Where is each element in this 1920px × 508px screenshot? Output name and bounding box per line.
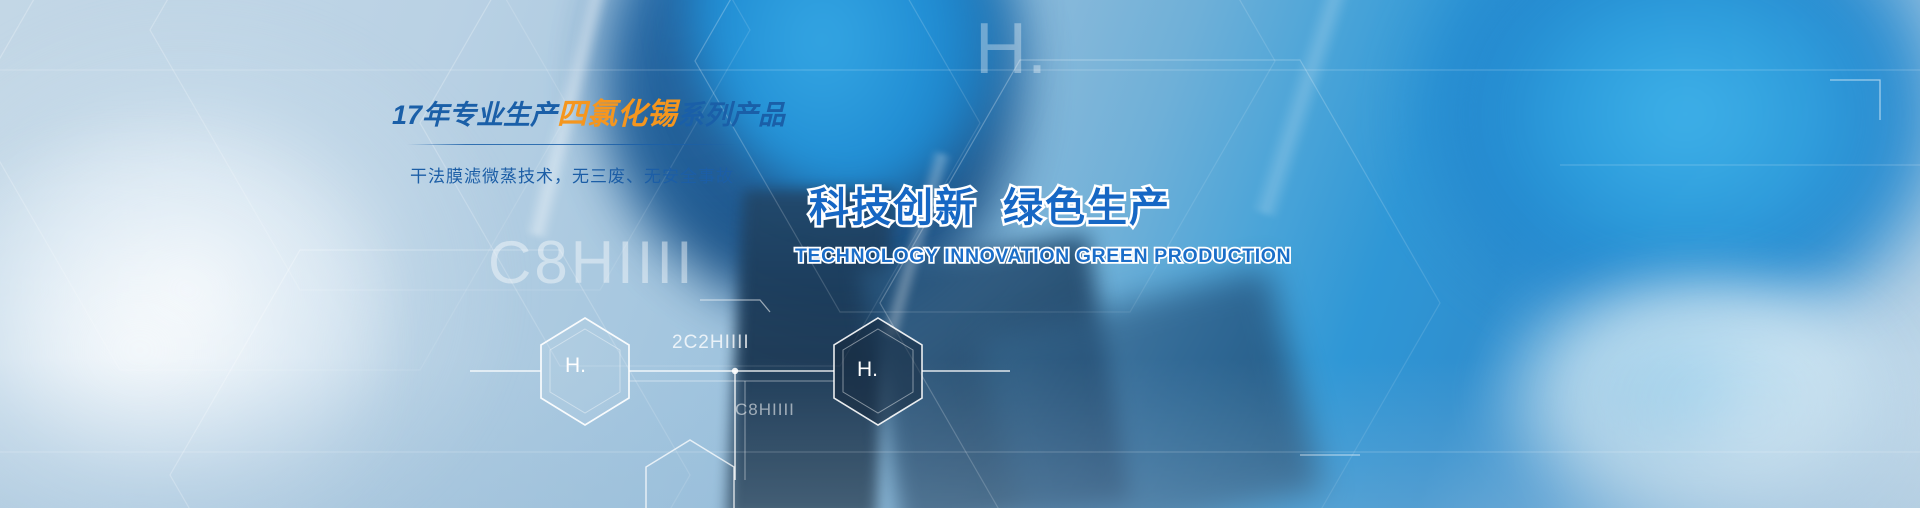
headline: 17年专业生产四氯化锡系列产品 — [392, 98, 752, 131]
bond-junction-dot — [732, 368, 738, 374]
slogan-part-1: 科技创新 — [809, 186, 977, 230]
watermark-atom-corner: H. — [975, 8, 1047, 90]
slogan: 科技创新绿色生产 — [795, 185, 1185, 231]
slogan-english: TECHNOLOGY INNOVATION GREEN PRODUCTION — [795, 245, 1185, 268]
hexagon-atom-label-left: H. — [565, 354, 586, 378]
headline-prefix: 17年专业生产 — [392, 100, 557, 130]
hexagon-atom-label-right: H. — [857, 358, 878, 382]
watermark-formula-mid: 2C2HIIII — [672, 332, 750, 354]
hexagon-node-right — [834, 318, 922, 425]
headline-block: 17年专业生产四氯化锡系列产品 干法膜滤微蒸技术，无三废、无安全事故 — [392, 98, 752, 187]
headline-subline: 干法膜滤微蒸技术，无三废、无安全事故 — [392, 162, 752, 187]
slogan-part-2: 绿色生产 — [1003, 186, 1171, 230]
slogan-block: 科技创新绿色生产 TECHNOLOGY INNOVATION GREEN PRO… — [795, 185, 1185, 268]
hero-banner: C8HIIII 2C2HIIII C8HIIII H. H. H. 17年专业生… — [0, 0, 1920, 508]
headline-divider — [407, 144, 737, 145]
watermark-formula-small: C8HIIII — [735, 400, 795, 420]
watermark-formula-large: C8HIIII — [488, 228, 696, 297]
headline-highlight: 四氯化锡 — [557, 98, 677, 131]
headline-suffix: 系列产品 — [677, 100, 785, 130]
